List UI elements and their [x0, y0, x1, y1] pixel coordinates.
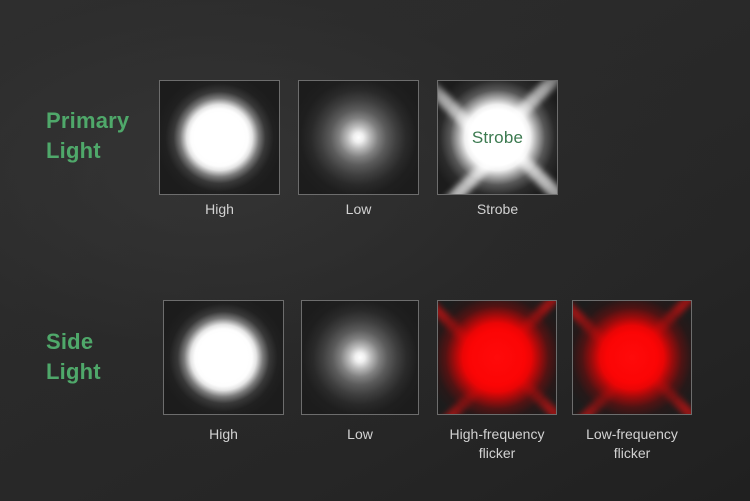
caption-side-high: High [163, 425, 284, 444]
caption-side-high-frequency-flicker: High-frequency flicker [429, 425, 565, 463]
caption-primary-high: High [159, 200, 280, 219]
tile-inner-label-strobe: Strobe [438, 128, 557, 148]
row-title-side-light: Side Light [46, 327, 101, 387]
tile-primary-strobe[interactable]: Strobe [437, 80, 558, 195]
glow-low-beam [299, 81, 418, 194]
glow-high-beam [160, 81, 279, 194]
caption-side-low: Low [301, 425, 419, 444]
tile-primary-low[interactable] [298, 80, 419, 195]
light-modes-diagram: Primary Light High Low Strobe Strobe Sid… [0, 0, 750, 501]
tile-side-low-frequency-flicker[interactable] [572, 300, 692, 415]
glow-red-flicker [573, 301, 691, 414]
caption-primary-low: Low [298, 200, 419, 219]
tile-side-low[interactable] [301, 300, 419, 415]
tile-primary-high[interactable] [159, 80, 280, 195]
glow-high-beam [164, 301, 283, 414]
row-title-primary-light: Primary Light [46, 106, 129, 166]
tile-side-high[interactable] [163, 300, 284, 415]
glow-red-flicker [438, 301, 556, 414]
caption-primary-strobe: Strobe [437, 200, 558, 219]
tile-side-high-frequency-flicker[interactable] [437, 300, 557, 415]
caption-side-low-frequency-flicker: Low-frequency flicker [564, 425, 700, 463]
glow-low-beam [302, 301, 418, 414]
